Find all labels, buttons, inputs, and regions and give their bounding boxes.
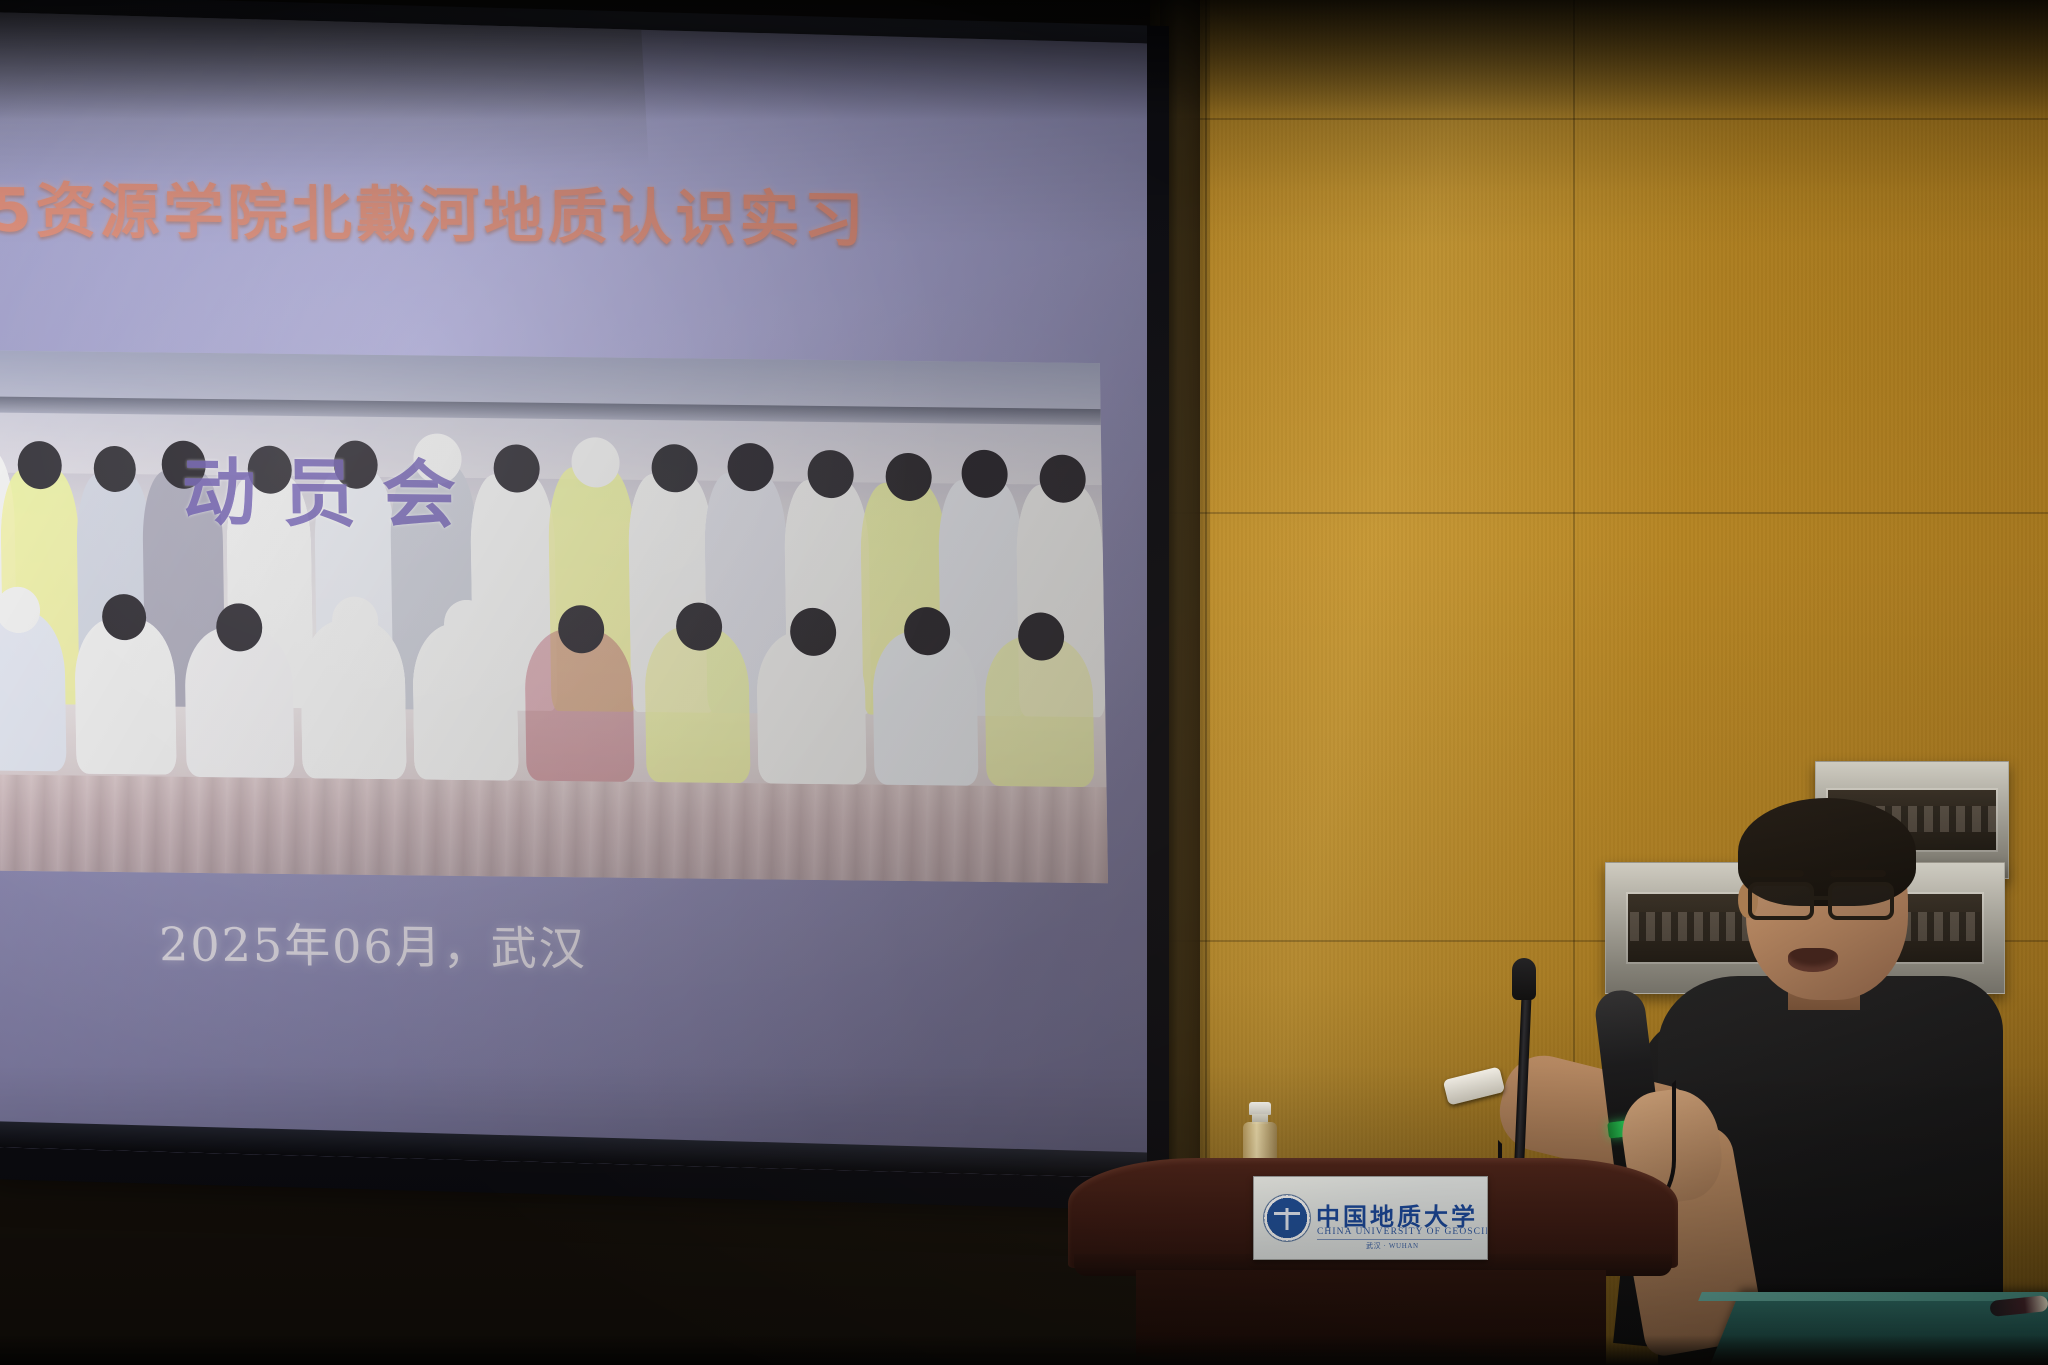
eyeglasses-icon	[1744, 882, 1916, 922]
eyeglass-lens-left	[1748, 882, 1814, 920]
screen-bottom-bar	[0, 1121, 1147, 1178]
projection-screen-surface: 25资源学院北戴河地质认识实习	[0, 12, 1147, 1178]
slide-group-photo: 动员会	[0, 350, 1108, 883]
presenter-eyebrow-right	[1830, 870, 1886, 877]
photo-crowd: 动员会	[0, 410, 1107, 803]
presenter-eyebrow-left	[1748, 870, 1804, 877]
slide-photo-overlay-text: 动员会	[181, 433, 483, 543]
sign-divider	[1317, 1239, 1472, 1240]
lectern-body	[1136, 1270, 1606, 1365]
slide-title: 25资源学院北戴河地质认识实习	[0, 161, 865, 258]
lectern-university-sign: 中国地质大学 CHINA UNIVERSITY OF GEOSCIENCES 武…	[1253, 1176, 1488, 1260]
sign-english-name: CHINA UNIVERSITY OF GEOSCIENCES	[1317, 1227, 1488, 1237]
gooseneck-microphone-capsule[interactable]	[1512, 958, 1536, 1000]
cug-seal-icon	[1264, 1195, 1310, 1241]
wall-seam-top	[1150, 118, 2048, 120]
wall-seam-mid	[1150, 512, 2048, 514]
slide-date-line: 2025年06月，武汉	[159, 908, 588, 979]
lecture-hall-scene: 25资源学院北戴河地质认识实习	[0, 0, 2048, 1365]
eyeglass-lens-right	[1828, 882, 1894, 920]
lectern: 中国地质大学 CHINA UNIVERSITY OF GEOSCIENCES 武…	[1068, 1158, 1678, 1365]
presenter-mouth	[1788, 948, 1838, 972]
water-bottle[interactable]	[1240, 1102, 1280, 1164]
presenter	[1620, 790, 2048, 1365]
projection-screen-frame: 25资源学院北戴河地质认识实习	[0, 0, 1169, 1211]
sign-city-label: 武汉 · WUHAN	[1366, 1241, 1419, 1251]
